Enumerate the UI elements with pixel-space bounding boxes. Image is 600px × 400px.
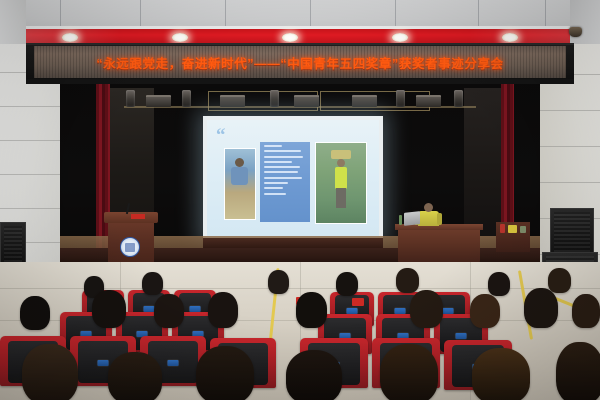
side-table-item [500, 224, 505, 233]
audience-head [154, 294, 184, 328]
stage-fresnel-lamp-icon [146, 95, 171, 107]
banner-text: “永远跟党走，奋进新时代”——“中国青年五四奖章”获奖者事迹分享会 [96, 53, 503, 72]
audience-head [410, 290, 443, 328]
audience-head-foreground [472, 348, 530, 400]
audience-head [548, 268, 571, 293]
stage-fresnel-lamp-icon [416, 95, 441, 107]
ceiling-downlight [282, 33, 298, 42]
seat-booklet [352, 298, 364, 306]
stage-par-lamp-icon [454, 90, 463, 107]
presenter-table [398, 228, 480, 262]
stage-par-lamp-icon [396, 90, 405, 107]
stage-par-lamp-icon [182, 90, 191, 107]
audience-head [142, 272, 163, 295]
audience-head [470, 294, 500, 328]
audience-head [336, 272, 358, 296]
audience-head [396, 268, 419, 293]
ceiling-downlight [172, 33, 188, 42]
presenter-arm [437, 213, 442, 225]
audience-head-foreground [556, 342, 600, 400]
projection-screen: “ [207, 120, 379, 236]
loudspeaker-left [0, 222, 26, 266]
podium-name-card [131, 214, 145, 219]
audience-head-foreground [22, 344, 78, 400]
slide-photo-left [224, 148, 256, 220]
audience-head-foreground [108, 352, 162, 400]
audience-head-foreground [380, 344, 438, 400]
ceiling-downlight [392, 33, 408, 42]
auditorium-photo: “永远跟党走，奋进新时代”——“中国青年五四奖章”获奖者事迹分享会 “ [0, 0, 600, 400]
audience-head-foreground [196, 346, 254, 400]
slide-quote-icon: “ [216, 126, 225, 145]
audience-head-foreground [286, 350, 342, 400]
side-table [496, 222, 530, 252]
ceiling-downlight [502, 33, 518, 42]
audience-head [296, 292, 327, 328]
audience-head [92, 290, 126, 328]
audience-head [20, 296, 50, 330]
stage-light-truss [124, 88, 476, 110]
presenter-body [418, 211, 439, 226]
banner-lower-frame [26, 79, 574, 84]
presenter-head [424, 203, 433, 212]
side-table-item [508, 225, 517, 233]
side-table-item [520, 226, 526, 233]
security-camera-icon [569, 27, 582, 37]
stage-fresnel-lamp-icon [294, 95, 319, 107]
ceiling-downlight [62, 33, 78, 42]
slide-text-block [260, 142, 310, 222]
laptop-icon [404, 211, 420, 226]
stage-fresnel-lamp-icon [352, 95, 377, 107]
audience-head [524, 288, 558, 328]
audience-head [488, 272, 510, 296]
water-bottle-icon [399, 215, 402, 225]
audience-head [268, 270, 289, 294]
audience-head [208, 292, 238, 328]
stage-par-lamp-icon [270, 90, 279, 107]
school-crest-emblem [120, 237, 140, 257]
stage-par-lamp-icon [126, 90, 135, 107]
led-banner: “永远跟党走，奋进新时代”——“中国青年五四奖章”获奖者事迹分享会 [34, 46, 566, 78]
audience-head [572, 294, 600, 328]
stage-fresnel-lamp-icon [220, 95, 245, 107]
slide-photo-right [315, 142, 367, 224]
